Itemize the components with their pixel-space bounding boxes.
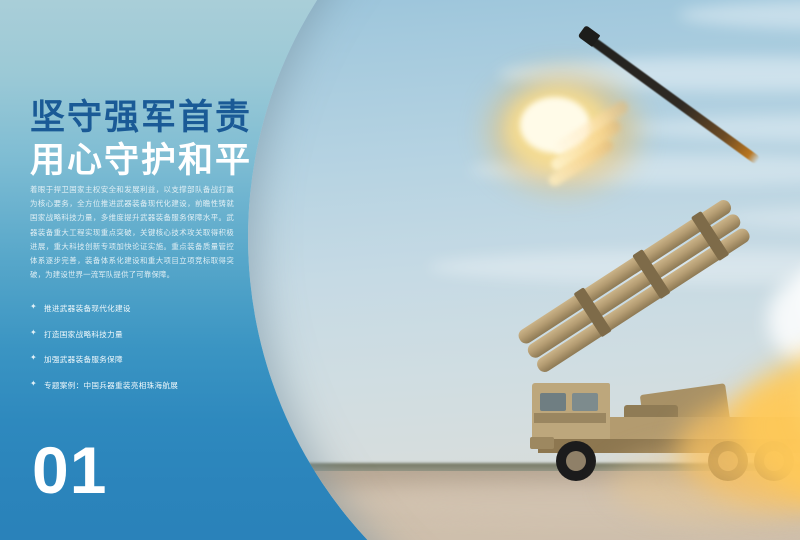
truck-cab <box>532 383 610 439</box>
list-item-label: 打造国家战略科技力量 <box>44 330 123 339</box>
truck-wheel <box>556 441 596 481</box>
bullet-list: ✦ 推进武器装备现代化建设 ✦ 打造国家战略科技力量 ✦ 加强武器装备服务保障 … <box>30 303 250 405</box>
list-item[interactable]: ✦ 加强武器装备服务保障 <box>30 354 250 365</box>
list-item-label: 加强武器装备服务保障 <box>44 355 123 364</box>
rocket-launcher-photo <box>248 0 800 540</box>
cab-window <box>572 393 598 411</box>
title-line-1: 坚守强军首责 <box>30 97 252 140</box>
bullet-marker-icon: ✦ <box>30 328 37 337</box>
section-number: 01 <box>32 437 107 503</box>
bullet-marker-icon: ✦ <box>30 353 37 362</box>
body-paragraph: 着眼于捍卫国家主权安全和发展利益，以支撑部队备战打赢为核心要务，全方位推进武器装… <box>30 183 234 283</box>
list-item[interactable]: ✦ 打造国家战略科技力量 <box>30 329 250 340</box>
list-item-label: 专题案例：中国兵器重装亮相珠海航展 <box>44 381 178 390</box>
cab-shadow <box>534 413 606 423</box>
title-line-2: 用心守护和平 <box>30 140 252 183</box>
hero-photo-circle <box>248 0 800 540</box>
list-item[interactable]: ✦ 专题案例：中国兵器重装亮相珠海航展 <box>30 380 250 391</box>
list-item-label: 推进武器装备现代化建设 <box>44 304 131 313</box>
page-title: 坚守强军首责 用心守护和平 <box>30 97 252 182</box>
bullet-marker-icon: ✦ <box>30 302 37 311</box>
bullet-marker-icon: ✦ <box>30 379 37 388</box>
truck-bumper <box>530 437 554 449</box>
cab-window <box>540 393 566 411</box>
list-item[interactable]: ✦ 推进武器装备现代化建设 <box>30 303 250 314</box>
presentation-slide: 坚守强军首责 用心守护和平 着眼于捍卫国家主权安全和发展利益，以支撑部队备战打赢… <box>0 0 800 540</box>
